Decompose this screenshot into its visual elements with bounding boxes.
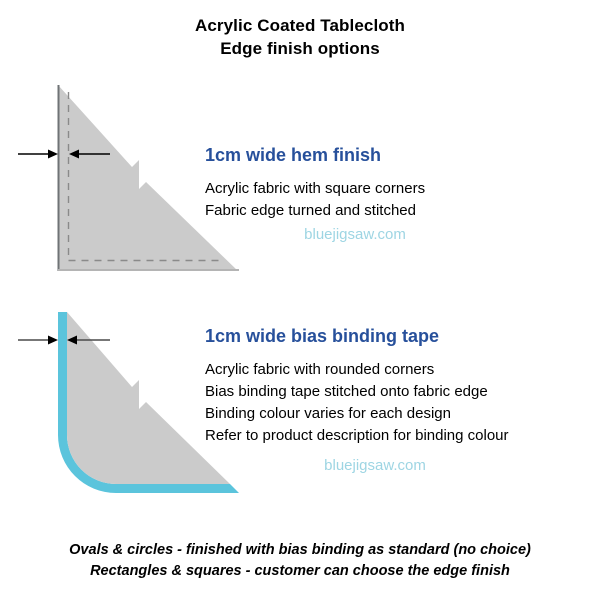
hem-watermark: bluejigsaw.com [205, 224, 505, 246]
bias-line-4: Refer to product description for binding… [205, 425, 595, 447]
footer-line-1: Ovals & circles - finished with bias bin… [0, 540, 600, 561]
bias-heading: 1cm wide bias binding tape [205, 325, 595, 347]
footer-note: Ovals & circles - finished with bias bin… [0, 540, 600, 582]
hem-text-column: 1cm wide hem finish Acrylic fabric with … [205, 78, 595, 246]
section-bias-binding: 1cm wide bias binding tape Acrylic fabri… [0, 305, 600, 505]
bias-line-2: Bias binding tape stitched onto fabric e… [205, 381, 595, 403]
bias-text-column: 1cm wide bias binding tape Acrylic fabri… [205, 305, 595, 477]
section-hem-finish: 1cm wide hem finish Acrylic fabric with … [0, 78, 600, 278]
diagram-page: Acrylic Coated Tablecloth Edge finish op… [0, 0, 600, 600]
title-line-2: Edge finish options [0, 37, 600, 60]
hem-line-2: Fabric edge turned and stitched [205, 200, 595, 222]
footer-line-2: Rectangles & squares - customer can choo… [0, 561, 600, 582]
page-title: Acrylic Coated Tablecloth Edge finish op… [0, 14, 600, 60]
hem-heading: 1cm wide hem finish [205, 144, 595, 166]
hem-line-1: Acrylic fabric with square corners [205, 178, 595, 200]
hem-body-lines: Acrylic fabric with square corners Fabri… [205, 178, 595, 222]
bias-line-1: Acrylic fabric with rounded corners [205, 359, 595, 381]
title-line-1: Acrylic Coated Tablecloth [0, 14, 600, 37]
bias-body-lines: Acrylic fabric with rounded corners Bias… [205, 359, 595, 447]
bias-line-3: Binding colour varies for each design [205, 403, 595, 425]
bias-watermark: bluejigsaw.com [205, 455, 545, 477]
